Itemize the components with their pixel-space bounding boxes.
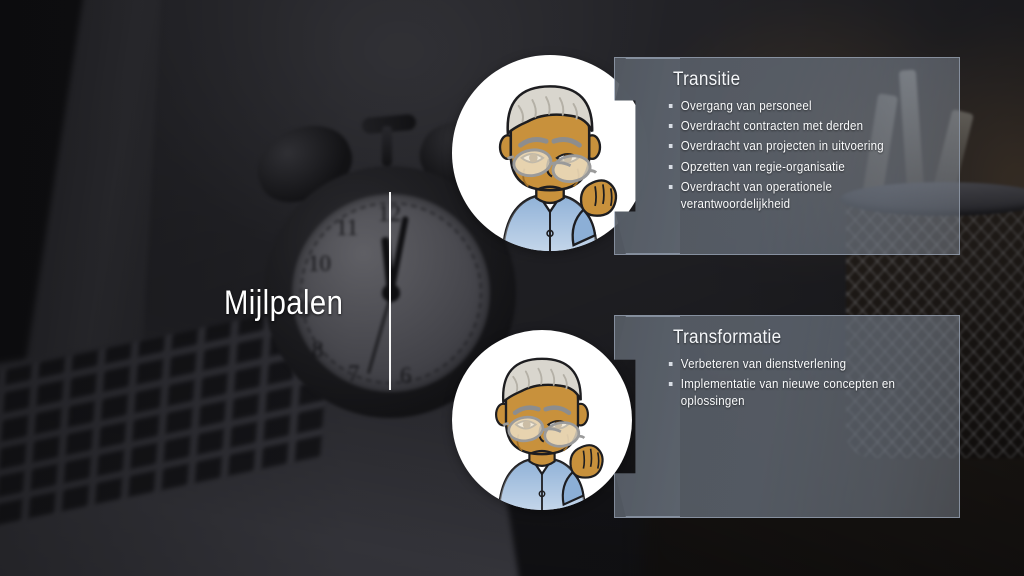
avatar-illustration bbox=[452, 330, 632, 510]
avatar-bottom bbox=[452, 330, 632, 510]
panel-bullet-list: Verbeteren van dienstverlening Implement… bbox=[667, 356, 943, 411]
slide-title: Mijlpalen bbox=[224, 286, 343, 320]
bullet-item: Overdracht contracten met derden bbox=[667, 118, 921, 135]
bullet-item: Implementatie van nieuwe concepten en op… bbox=[667, 376, 921, 411]
panel-heading: Transitie bbox=[673, 70, 916, 91]
panel-bullet-list: Overgang van personeel Overdracht contra… bbox=[667, 98, 943, 214]
panel-heading: Transformatie bbox=[673, 328, 916, 349]
bullet-item: Overdracht van operationele verantwoorde… bbox=[667, 179, 921, 214]
bullet-item: Verbeteren van dienstverlening bbox=[667, 356, 921, 373]
callout-panel-transformatie: Transformatie Verbeteren van dienstverle… bbox=[614, 315, 960, 518]
bullet-item: Overgang van personeel bbox=[667, 98, 921, 115]
presentation-slide: 12 11 10 9 8 7 6 Mijlpalen bbox=[0, 0, 1024, 576]
vertical-divider-rule bbox=[389, 192, 391, 390]
callout-panel-transitie: Transitie Overgang van personeel Overdra… bbox=[614, 57, 960, 255]
bullet-item: Opzetten van regie-organisatie bbox=[667, 159, 921, 176]
bullet-item: Overdracht van projecten in uitvoering bbox=[667, 138, 921, 155]
